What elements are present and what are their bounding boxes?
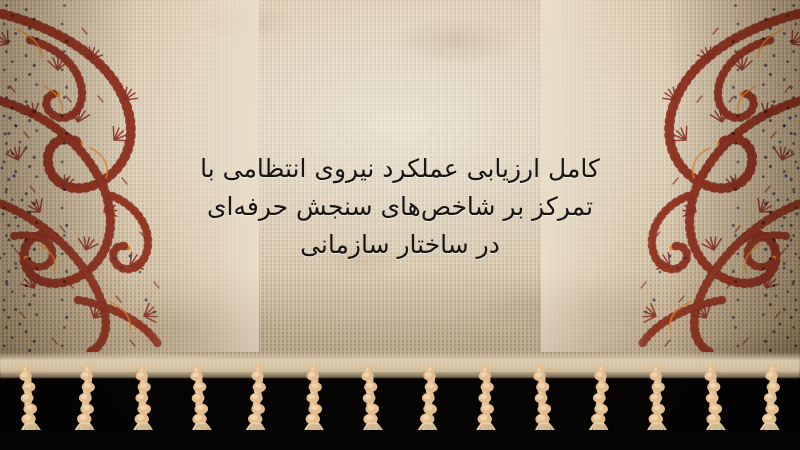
slide-title: کامل ارزیابی عملکرد نیروی انتظامی با تمر…	[0, 150, 800, 264]
bottom-black-bar	[0, 430, 800, 450]
slide-canvas: کامل ارزیابی عملکرد نیروی انتظامی با تمر…	[0, 0, 800, 450]
title-line-3: در ساختار سازمانی	[0, 226, 800, 264]
title-line-2: تمرکز بر شاخص‌های سنجش حرفه‌ای	[0, 188, 800, 226]
title-line-1: کامل ارزیابی عملکرد نیروی انتظامی با	[0, 150, 800, 188]
